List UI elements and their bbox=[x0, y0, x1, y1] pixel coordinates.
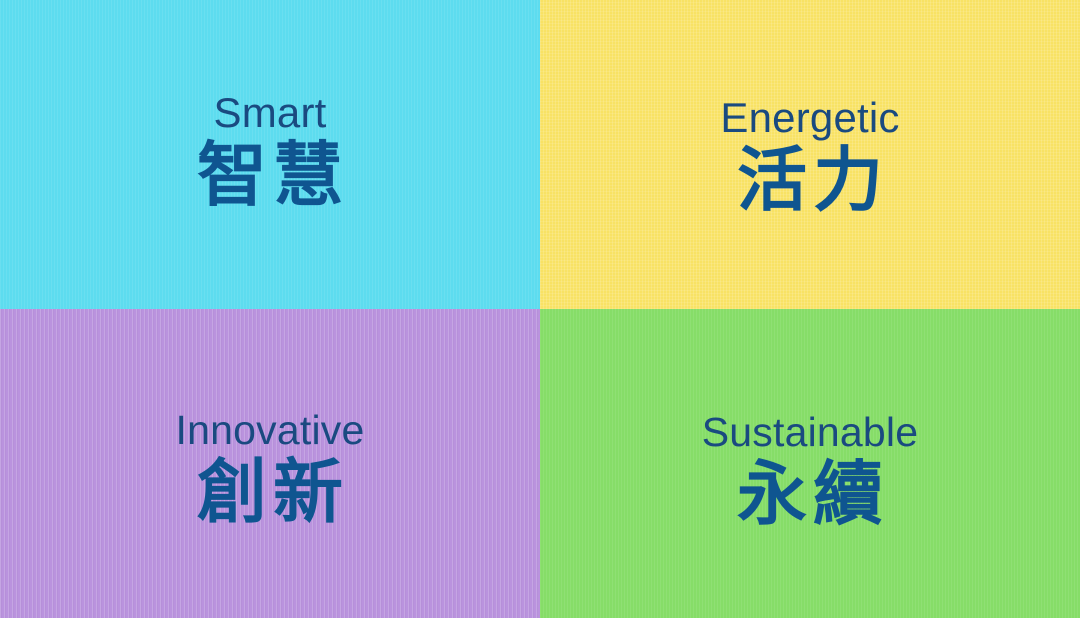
quadrant-innovative-text: Innovative 創新 bbox=[0, 410, 540, 528]
quadrant-energetic-label-en: Energetic bbox=[540, 97, 1080, 139]
quadrant-energetic-label-cjk: 活力 bbox=[540, 145, 1080, 216]
quadrant-smart[interactable]: Smart 智慧 bbox=[0, 0, 540, 309]
quadrant-innovative[interactable]: Innovative 創新 bbox=[0, 309, 540, 618]
quadrant-smart-text: Smart 智慧 bbox=[0, 92, 540, 211]
quadrant-energetic-text: Energetic 活力 bbox=[540, 97, 1080, 216]
quadrant-sustainable-label-en: Sustainable bbox=[540, 412, 1080, 453]
quadrant-sustainable-label-cjk: 永續 bbox=[540, 459, 1080, 530]
quadrant-sustainable[interactable]: Sustainable 永續 bbox=[540, 309, 1080, 618]
quadrant-innovative-label-en: Innovative bbox=[0, 410, 540, 451]
quadrant-sustainable-text: Sustainable 永續 bbox=[540, 412, 1080, 530]
brand-values-poster: Smart 智慧 Energetic 活力 Innovative 創新 Sust… bbox=[0, 0, 1080, 618]
quadrant-smart-label-en: Smart bbox=[0, 92, 540, 134]
quadrant-energetic[interactable]: Energetic 活力 bbox=[540, 0, 1080, 309]
quadrant-smart-label-cjk: 智慧 bbox=[0, 140, 540, 211]
quadrant-innovative-label-cjk: 創新 bbox=[0, 457, 540, 528]
